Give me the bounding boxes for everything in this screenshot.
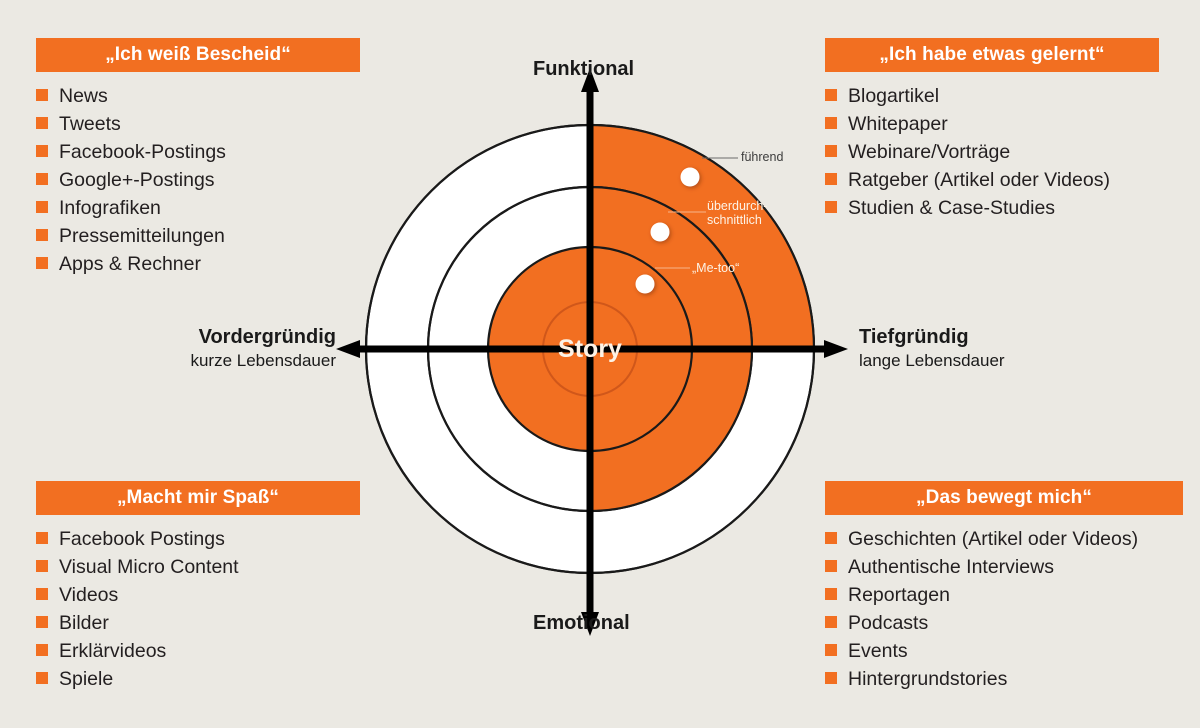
list-item-label: Authentische Interviews [848,553,1054,581]
list-item: Visual Micro Content [36,553,360,581]
list-item: Events [825,637,1183,665]
square-bullet-icon [36,588,48,600]
square-bullet-icon [825,672,837,684]
list-item-label: Facebook Postings [59,525,225,553]
list-item: News [36,82,360,110]
square-bullet-icon [36,89,48,101]
square-bullet-icon [825,89,837,101]
panel-bottom-right: „Das bewegt mich“ Geschichten (Artikel o… [825,481,1183,693]
list-item-label: Hintergrundstories [848,665,1007,693]
list-item: Google+-Postings [36,166,360,194]
square-bullet-icon [36,201,48,213]
list-item-label: Videos [59,581,118,609]
square-bullet-icon [36,532,48,544]
list-item-label: Geschichten (Artikel oder Videos) [848,525,1138,553]
list-item-label: Events [848,637,908,665]
list-item: Reportagen [825,581,1183,609]
square-bullet-icon [825,532,837,544]
axis-label-left-secondary: kurze Lebensdauer [176,349,336,372]
panel-bottom-left: „Macht mir Spaß“ Facebook PostingsVisual… [36,481,360,693]
list-item-label: Apps & Rechner [59,250,201,278]
axis-label-funktional: Funktional [533,58,634,81]
square-bullet-icon [36,257,48,269]
marker-dot-metoo[interactable] [636,275,655,294]
marker-label-ueberdurchschnittlich: überdurch- schnittlich [707,199,767,227]
marker-label-fuehrend: führend [741,150,783,164]
list-item-label: Bilder [59,609,109,637]
square-bullet-icon [825,588,837,600]
square-bullet-icon [36,117,48,129]
list-item: Apps & Rechner [36,250,360,278]
panel-top-right-list: BlogartikelWhitepaperWebinare/VorträgeRa… [825,72,1159,222]
list-item-label: Visual Micro Content [59,553,239,581]
list-item: Podcasts [825,609,1183,637]
list-item: Pressemitteilungen [36,222,360,250]
list-item: Facebook Postings [36,525,360,553]
list-item: Authentische Interviews [825,553,1183,581]
axis-label-right-primary: Tiefgründig [859,325,1079,349]
square-bullet-icon [36,173,48,185]
list-item-label: Infografiken [59,194,161,222]
panel-bottom-right-title: „Das bewegt mich“ [825,481,1183,515]
list-item: Ratgeber (Artikel oder Videos) [825,166,1159,194]
list-item: Facebook-Postings [36,138,360,166]
marker-label-metoo: „Me-too“ [692,261,739,275]
square-bullet-icon [36,616,48,628]
square-bullet-icon [825,560,837,572]
list-item-label: Webinare/Vorträge [848,138,1010,166]
square-bullet-icon [825,173,837,185]
list-item-label: Podcasts [848,609,928,637]
list-item: Videos [36,581,360,609]
square-bullet-icon [825,201,837,213]
list-item: Webinare/Vorträge [825,138,1159,166]
panel-top-right-title: „Ich habe etwas gelernt“ [825,38,1159,72]
axis-arrow-left [336,340,360,358]
list-item-label: Tweets [59,110,121,138]
axis-label-emotional: Emotional [533,612,630,635]
square-bullet-icon [36,229,48,241]
panel-top-left-list: NewsTweetsFacebook-PostingsGoogle+-Posti… [36,72,360,278]
list-item: Infografiken [36,194,360,222]
list-item-label: Facebook-Postings [59,138,226,166]
panel-top-left-title: „Ich weiß Bescheid“ [36,38,360,72]
list-item-label: News [59,82,108,110]
list-item-label: Pressemitteilungen [59,222,225,250]
square-bullet-icon [36,560,48,572]
list-item-label: Erklärvideos [59,637,166,665]
axis-label-tiefgruendig: Tiefgründig lange Lebensdauer [859,325,1079,372]
list-item: Erklärvideos [36,637,360,665]
story-center-label: Story [558,335,622,363]
axis-label-left-primary: Vordergründig [176,325,336,349]
square-bullet-icon [825,616,837,628]
panel-bottom-right-list: Geschichten (Artikel oder Videos)Authent… [825,515,1183,693]
list-item: Bilder [36,609,360,637]
diagram-canvas: Story führend überdurch- schnittlich „Me… [0,0,1200,728]
list-item-label: Reportagen [848,581,950,609]
axis-arrow-right [824,340,848,358]
panel-bottom-left-list: Facebook PostingsVisual Micro ContentVid… [36,515,360,693]
list-item: Whitepaper [825,110,1159,138]
square-bullet-icon [825,145,837,157]
list-item-label: Studien & Case-Studies [848,194,1055,222]
panel-bottom-left-title: „Macht mir Spaß“ [36,481,360,515]
list-item-label: Ratgeber (Artikel oder Videos) [848,166,1110,194]
list-item: Hintergrundstories [825,665,1183,693]
square-bullet-icon [36,672,48,684]
square-bullet-icon [36,644,48,656]
list-item: Blogartikel [825,82,1159,110]
panel-top-left: „Ich weiß Bescheid“ NewsTweetsFacebook-P… [36,38,360,278]
marker-dot-fuehrend[interactable] [681,168,700,187]
axis-label-vordergruendig: Vordergründig kurze Lebensdauer [176,325,336,372]
list-item: Geschichten (Artikel oder Videos) [825,525,1183,553]
list-item: Tweets [36,110,360,138]
marker-dot-ueberdurchschnittlich[interactable] [651,223,670,242]
list-item-label: Google+-Postings [59,166,215,194]
list-item: Spiele [36,665,360,693]
list-item-label: Whitepaper [848,110,948,138]
square-bullet-icon [36,145,48,157]
square-bullet-icon [825,117,837,129]
panel-top-right: „Ich habe etwas gelernt“ BlogartikelWhit… [825,38,1159,222]
list-item: Studien & Case-Studies [825,194,1159,222]
axis-label-right-secondary: lange Lebensdauer [859,349,1079,372]
square-bullet-icon [825,644,837,656]
list-item-label: Blogartikel [848,82,939,110]
list-item-label: Spiele [59,665,113,693]
